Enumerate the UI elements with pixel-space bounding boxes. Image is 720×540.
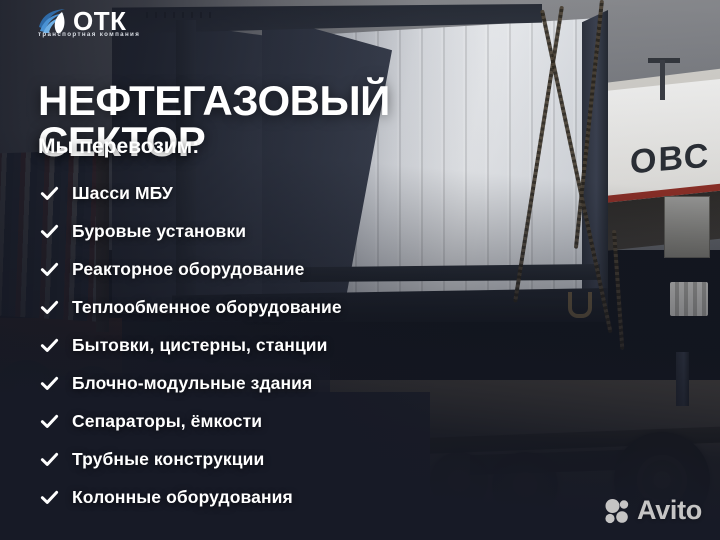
list-item-label: Теплообменное оборудование	[72, 297, 342, 318]
subtitle: Мы перевозим:	[38, 135, 199, 159]
nefтегаз-promo-banner: ОВС	[0, 0, 720, 540]
list-item: Сепараторы, ёмкости	[40, 402, 470, 440]
list-item: Теплообменное оборудование	[40, 288, 470, 326]
checkmark-icon	[40, 336, 59, 355]
checkmark-icon	[40, 374, 59, 393]
list-item: Трубные конструкции	[40, 440, 470, 478]
checkmark-icon	[40, 488, 59, 507]
list-item-label: Шасси МБУ	[72, 183, 173, 204]
list-item: Буровые установки	[40, 212, 470, 250]
list-item-label: Буровые установки	[72, 221, 246, 242]
list-item: Шасси МБУ	[40, 174, 470, 212]
list-item: Реакторное оборудование	[40, 250, 470, 288]
avito-wordmark: Avito	[637, 495, 702, 526]
avito-dots-icon	[604, 498, 630, 524]
list-item-label: Реакторное оборудование	[72, 259, 304, 280]
checkmark-icon	[40, 222, 59, 241]
checkmark-icon	[40, 184, 59, 203]
banner-content: ОТК транспортная компания НЕФТЕГАЗОВЫЙ С…	[0, 0, 720, 540]
list-item: Бытовки, цистерны, станции	[40, 326, 470, 364]
checkmark-icon	[40, 298, 59, 317]
checkmark-icon	[40, 260, 59, 279]
avito-watermark: Avito	[604, 495, 702, 526]
checkmark-icon	[40, 412, 59, 431]
list-item-label: Бытовки, цистерны, станции	[72, 335, 328, 356]
list-item: Блочно-модульные здания	[40, 364, 470, 402]
cargo-list: Шасси МБУ Буровые установки Реакторное о…	[40, 174, 470, 516]
list-item-label: Сепараторы, ёмкости	[72, 411, 262, 432]
list-item-label: Трубные конструкции	[72, 449, 264, 470]
checkmark-icon	[40, 450, 59, 469]
list-item-label: Блочно-модульные здания	[72, 373, 312, 394]
logo-tagline: транспортная компания	[38, 31, 140, 38]
list-item-label: Колонные оборудования	[72, 487, 293, 508]
list-item: Колонные оборудования	[40, 478, 470, 516]
